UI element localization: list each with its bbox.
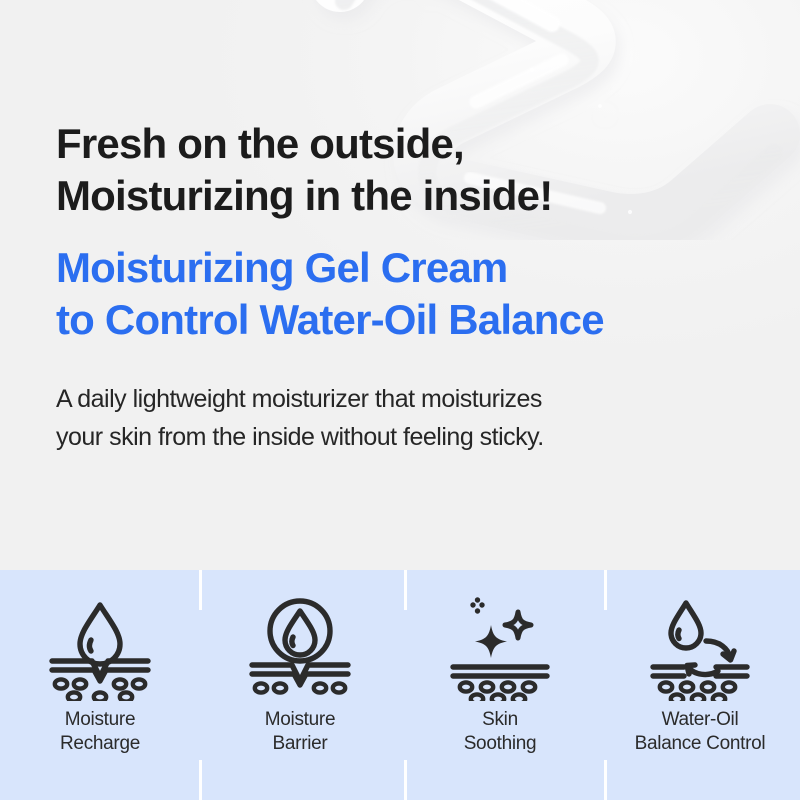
hero-subcopy-line-2: your skin from the inside without feelin… bbox=[56, 418, 776, 456]
headline-blue: Moisturizing Gel Cream to Control Water-… bbox=[56, 242, 776, 346]
hero-section: Fresh on the outside, Moisturizing in th… bbox=[0, 0, 800, 570]
benefit-label-line-1: Moisture bbox=[265, 708, 335, 732]
hero-copy: Fresh on the outside, Moisturizing in th… bbox=[56, 118, 776, 456]
benefits-band: Moisture Recharge bbox=[0, 570, 800, 800]
hero-subcopy: A daily lightweight moisturizer that moi… bbox=[56, 380, 776, 456]
benefit-label-line-2: Balance Control bbox=[635, 732, 766, 756]
benefit-label-skin-soothing: Skin Soothing bbox=[464, 708, 537, 757]
benefit-label-moisture-recharge: Moisture Recharge bbox=[60, 708, 140, 757]
benefit-label-moisture-barrier: Moisture Barrier bbox=[265, 708, 335, 757]
hero-subcopy-line-1: A daily lightweight moisturizer that moi… bbox=[56, 380, 776, 418]
benefit-label-line-1: Moisture bbox=[60, 708, 140, 732]
droplet-in-circle-barrier-icon bbox=[246, 592, 354, 704]
benefit-label-water-oil-balance-control: Water-Oil Balance Control bbox=[635, 708, 766, 757]
benefit-label-line-1: Water-Oil bbox=[635, 708, 766, 732]
headline-dark-line-1: Fresh on the outside, bbox=[56, 118, 776, 170]
benefit-item-moisture-barrier: Moisture Barrier bbox=[200, 570, 400, 800]
headline-blue-line-2: to Control Water-Oil Balance bbox=[56, 294, 776, 346]
benefit-label-line-1: Skin bbox=[464, 708, 537, 732]
sparkles-over-skin-icon bbox=[446, 592, 554, 704]
droplet-absorbing-into-skin-icon bbox=[46, 592, 154, 704]
headline-blue-line-1: Moisturizing Gel Cream bbox=[56, 242, 776, 294]
benefit-label-line-2: Soothing bbox=[464, 732, 537, 756]
benefit-label-line-2: Barrier bbox=[265, 732, 335, 756]
benefit-label-line-2: Recharge bbox=[60, 732, 140, 756]
droplet-with-circulation-arrows-icon bbox=[646, 592, 754, 704]
benefit-item-water-oil-balance-control: Water-Oil Balance Control bbox=[600, 570, 800, 800]
benefit-item-skin-soothing: Skin Soothing bbox=[400, 570, 600, 800]
benefit-item-moisture-recharge: Moisture Recharge bbox=[0, 570, 200, 800]
headline-dark-line-2: Moisturizing in the inside! bbox=[56, 170, 776, 222]
headline-dark: Fresh on the outside, Moisturizing in th… bbox=[56, 118, 776, 222]
